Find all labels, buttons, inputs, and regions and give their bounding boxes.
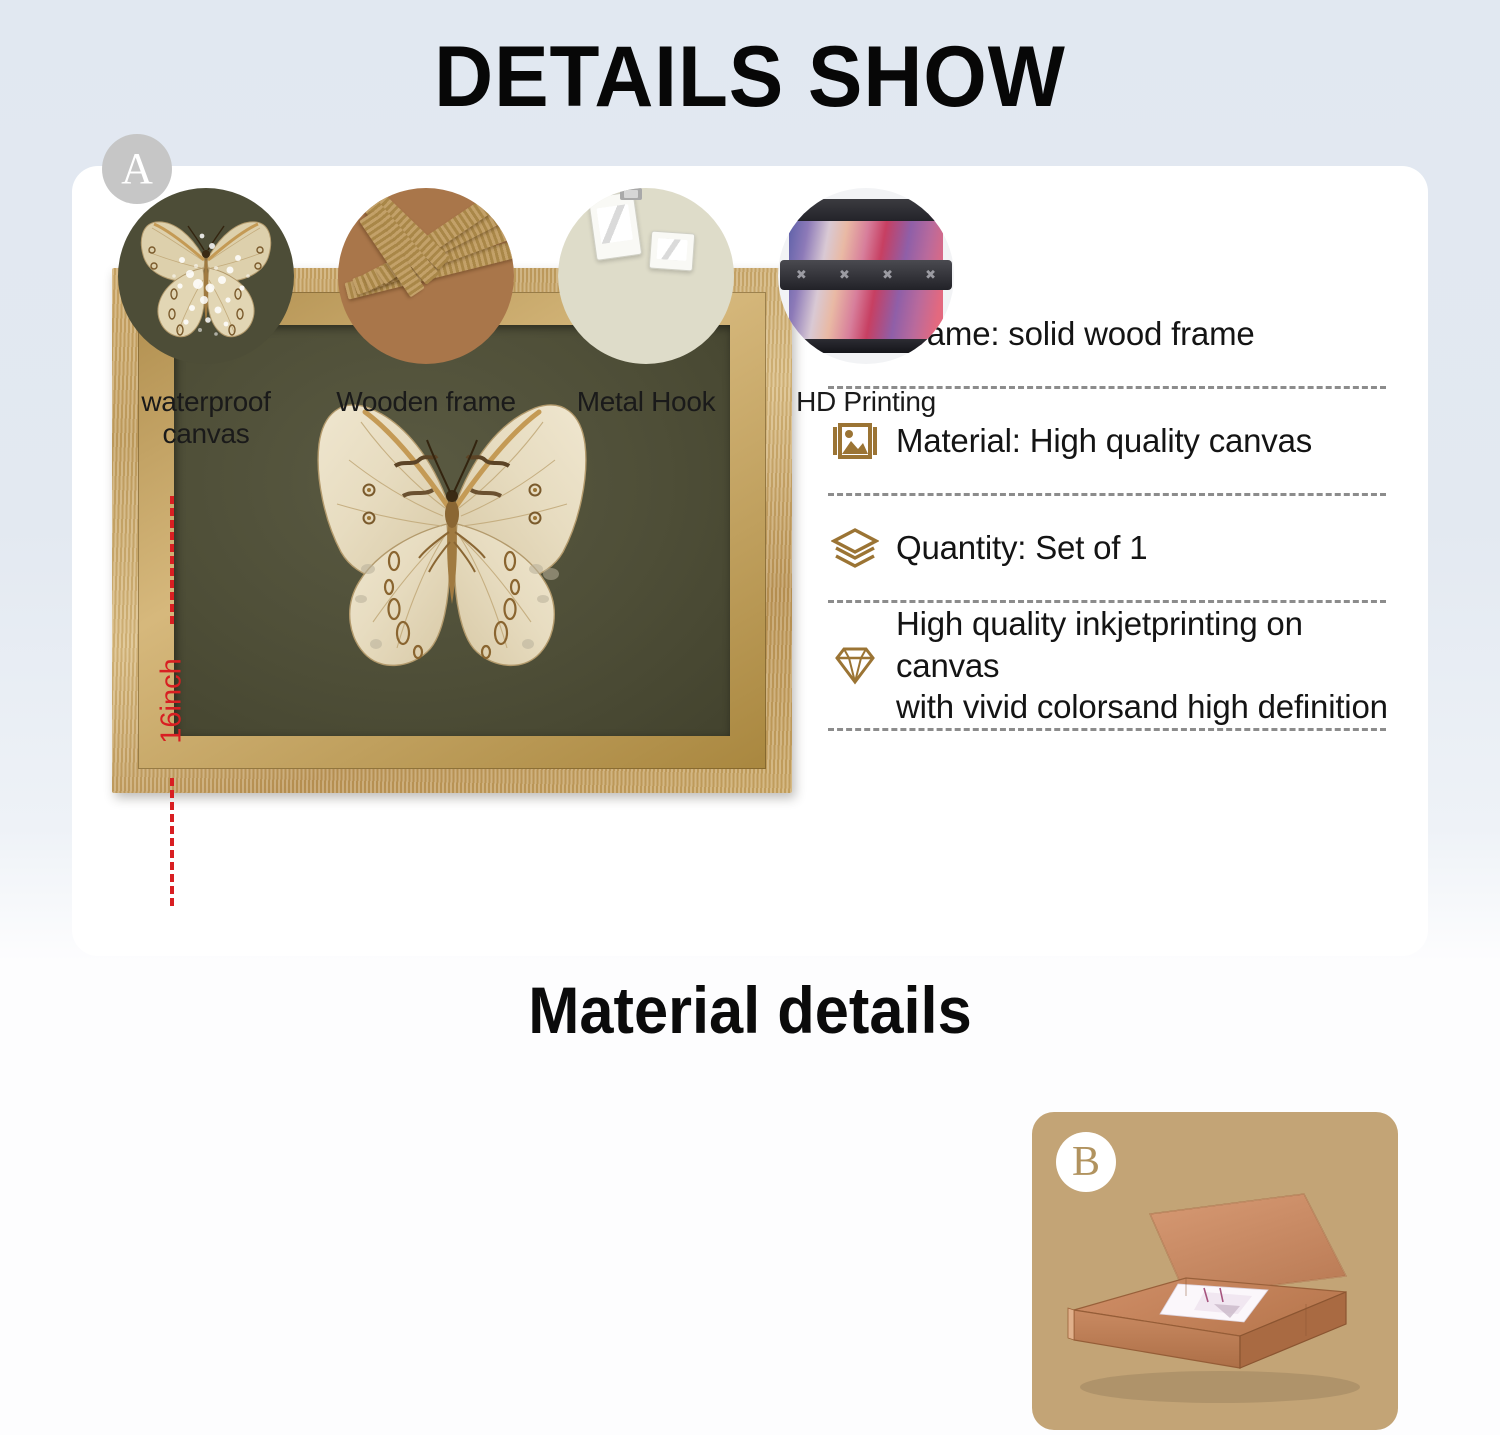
cardboard-box-thumb — [1054, 1172, 1376, 1412]
hd-printer-thumb: ✖ ✖ ✖ ✖ — [778, 188, 954, 364]
page-title: DETAILS SHOW — [38, 28, 1463, 127]
feature-row-printing: High quality inkjetprinting on canvas wi… — [814, 603, 1392, 728]
feature-divider-4 — [828, 728, 1386, 731]
height-guide-bottom — [170, 778, 174, 906]
layers-icon — [822, 520, 888, 576]
feature-row-quantity: Quantity: Set of 1 — [814, 496, 1392, 600]
thumbnail-caption-hd-printing: HD Printing — [756, 386, 976, 418]
section-title: Material details — [53, 972, 1448, 1048]
height-dimension: 16inch — [150, 496, 194, 906]
metal-hook-thumb — [558, 188, 734, 364]
diamond-icon — [822, 637, 888, 693]
printer-top-rail — [785, 199, 947, 222]
thumbnail-row: waterproof canvas Wooden frame — [96, 188, 976, 450]
thumbnail-wooden-frame[interactable]: Wooden frame — [316, 188, 536, 450]
thumbnail-metal-hook[interactable]: Metal Hook — [536, 188, 756, 450]
carriage-marker: ✖ — [882, 267, 893, 283]
height-dimension-label: 16inch — [156, 641, 189, 761]
carriage-marker: ✖ — [796, 267, 807, 283]
thumbnail-waterproof-canvas[interactable]: waterproof canvas — [96, 188, 316, 450]
material-group-b: B — [1032, 1112, 1398, 1430]
carriage-marker: ✖ — [925, 267, 936, 283]
height-guide-top — [170, 496, 174, 624]
butterfly-canvas-thumb — [118, 188, 294, 364]
wooden-frame-thumb — [338, 188, 514, 364]
carriage-marker: ✖ — [839, 267, 850, 283]
feature-label-printing: High quality inkjetprinting on canvas wi… — [888, 603, 1392, 728]
thumbnail-caption-waterproof-canvas: waterproof canvas — [96, 386, 316, 450]
hero-section: DETAILS SHOW — [0, 0, 1500, 962]
thumbnail-hd-printing[interactable]: ✖ ✖ ✖ ✖ HD Printing — [756, 188, 976, 450]
thumbnail-caption-metal-hook: Metal Hook — [536, 386, 756, 418]
thumbnail-caption-wooden-frame: Wooden frame — [316, 386, 536, 418]
printer-bottom-rail — [785, 339, 947, 353]
printer-carriage: ✖ ✖ ✖ ✖ — [780, 260, 952, 290]
feature-label-quantity: Quantity: Set of 1 — [888, 527, 1147, 569]
